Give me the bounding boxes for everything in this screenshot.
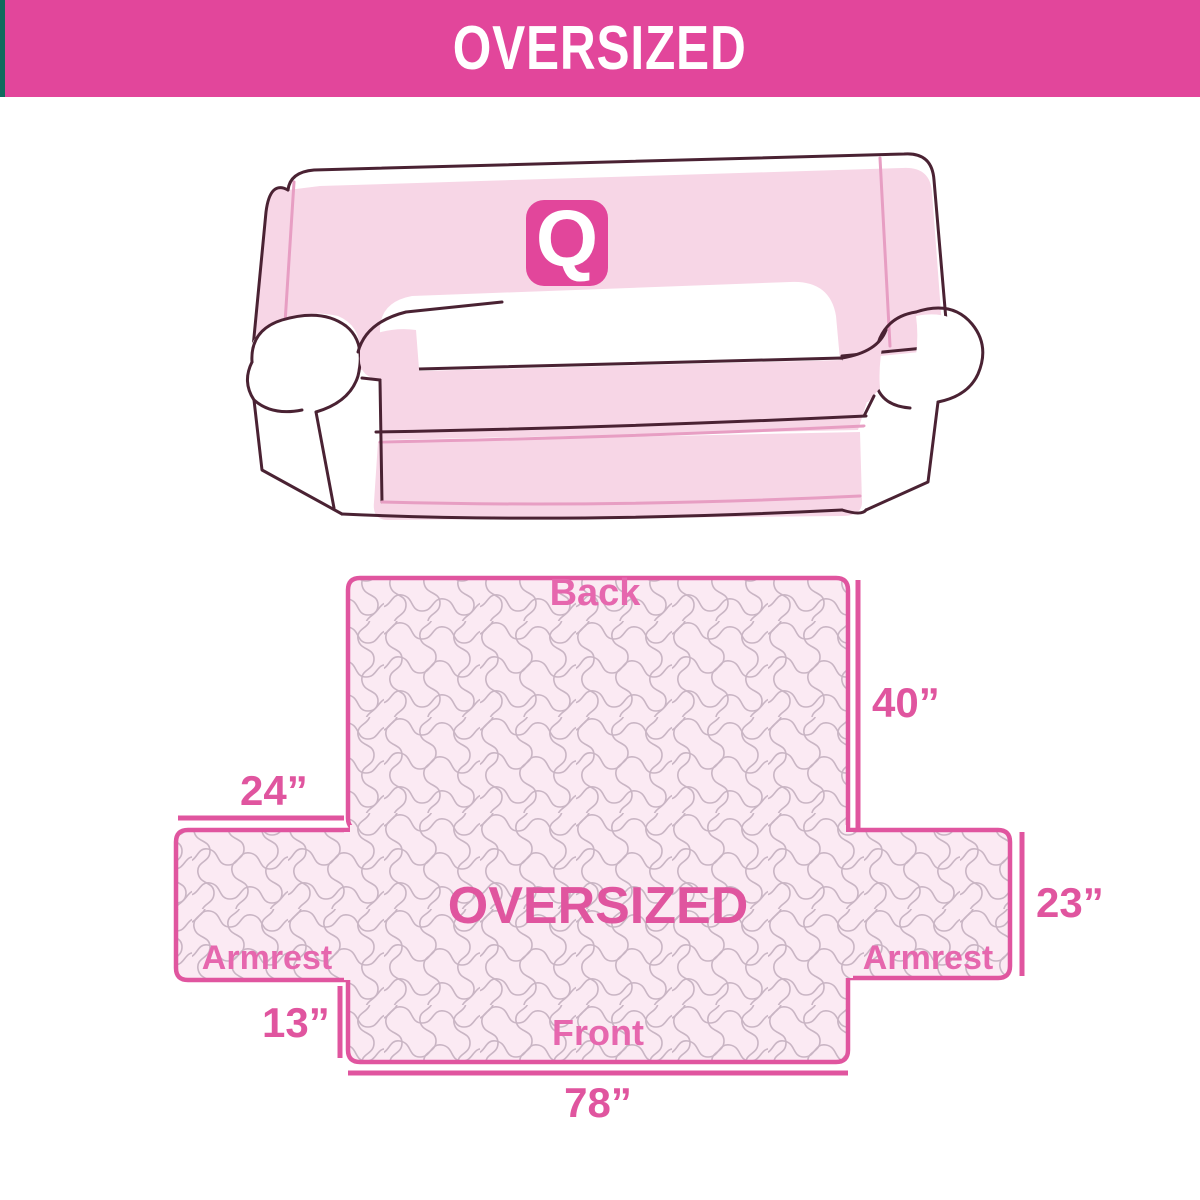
dim-value-total-width: 78”: [564, 1079, 632, 1126]
header-banner: OVERSIZED: [0, 0, 1200, 97]
svg-text:Q: Q: [536, 194, 598, 283]
panel-label-back: Back: [550, 572, 642, 614]
sofa-illustration: .so { fill:none; stroke:#4a2233; stroke-…: [230, 130, 990, 520]
diagram-center-label: OVERSIZED: [448, 877, 749, 935]
dim-value-armrest-left-width: 24”: [240, 767, 308, 814]
page-title: OVERSIZED: [453, 18, 747, 80]
panel-label-armrest-right: Armrest: [863, 939, 993, 977]
dim-value-armrest-right-height: 23”: [1036, 879, 1104, 926]
dim-value-front-height: 13”: [262, 999, 330, 1046]
q-logo-badge: Q: [526, 194, 608, 286]
panel-label-armrest-left: Armrest: [202, 939, 332, 977]
panel-back: [348, 578, 848, 830]
product-size-chart-page: OVERSIZED .so { fill:none; stroke:#4a223…: [0, 0, 1200, 1200]
panel-label-front: Front: [552, 1012, 644, 1053]
dim-value-back-height: 40”: [872, 679, 940, 726]
dimension-diagram: Back Armrest Armrest Front OVERSIZED 40”…: [0, 525, 1200, 1145]
header-accent-strip: [0, 0, 5, 97]
